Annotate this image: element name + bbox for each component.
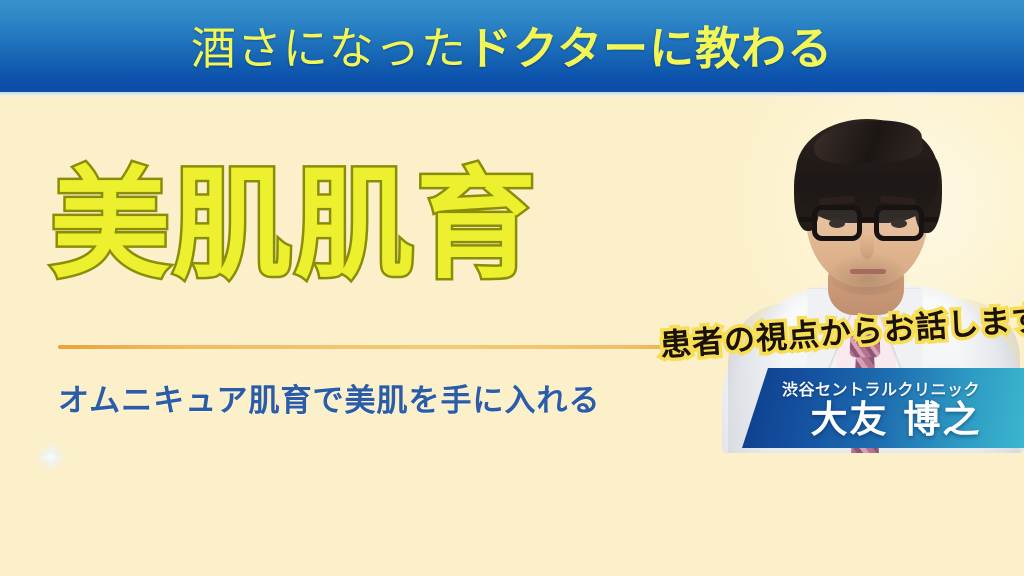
glasses-temple-right xyxy=(924,217,938,222)
glasses-temple-left xyxy=(799,217,813,222)
mouth xyxy=(850,269,886,274)
doctor-name: 大友 博之 xyxy=(782,401,1010,440)
slide-canvas: 酒さになったドクターに教わる 美肌肌育 オムニキュア肌育で美肌を手に入れる xyxy=(0,0,1024,576)
page-title: 美肌肌育 xyxy=(50,162,538,289)
sparkle-icon xyxy=(22,428,80,486)
header-title: 酒さになったドクターに教わる xyxy=(0,0,1024,92)
stubble-shading xyxy=(826,253,910,295)
header-title-strong: ドクターに教わる xyxy=(467,12,833,77)
sparkle-ray-vertical xyxy=(50,444,53,470)
doctor-name-plate: 渋谷セントラルクリニック 大友 博之 xyxy=(742,368,1024,448)
nose xyxy=(860,235,874,259)
glasses-bridge xyxy=(862,217,874,222)
sparkle-ray-horizontal xyxy=(34,456,68,459)
title-divider xyxy=(58,345,703,349)
glasses-lens-right xyxy=(874,205,924,241)
clinic-name: 渋谷セントラルクリニック xyxy=(782,376,1010,400)
glasses-lens-left xyxy=(812,205,862,241)
header-title-light: 酒さになった xyxy=(191,12,467,77)
sparkle-glow xyxy=(36,442,66,472)
subtitle: オムニキュア肌育で美肌を手に入れる xyxy=(58,375,600,420)
